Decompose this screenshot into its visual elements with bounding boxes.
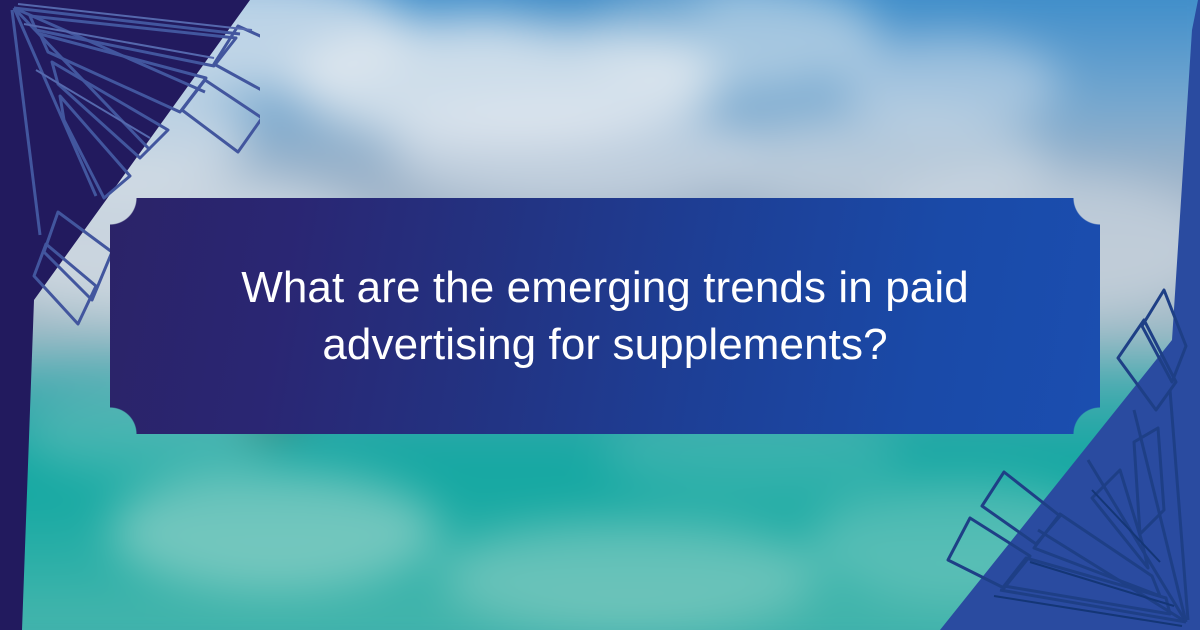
- page-title: What are the emerging trends in paid adv…: [185, 259, 1025, 373]
- quote-card: What are the emerging trends in paid adv…: [0, 0, 1200, 630]
- cloud-shape: [390, 100, 750, 205]
- foam-patch: [440, 520, 820, 630]
- foam-patch: [110, 470, 440, 590]
- title-banner: What are the emerging trends in paid adv…: [110, 198, 1100, 434]
- foam-patch: [810, 480, 1110, 600]
